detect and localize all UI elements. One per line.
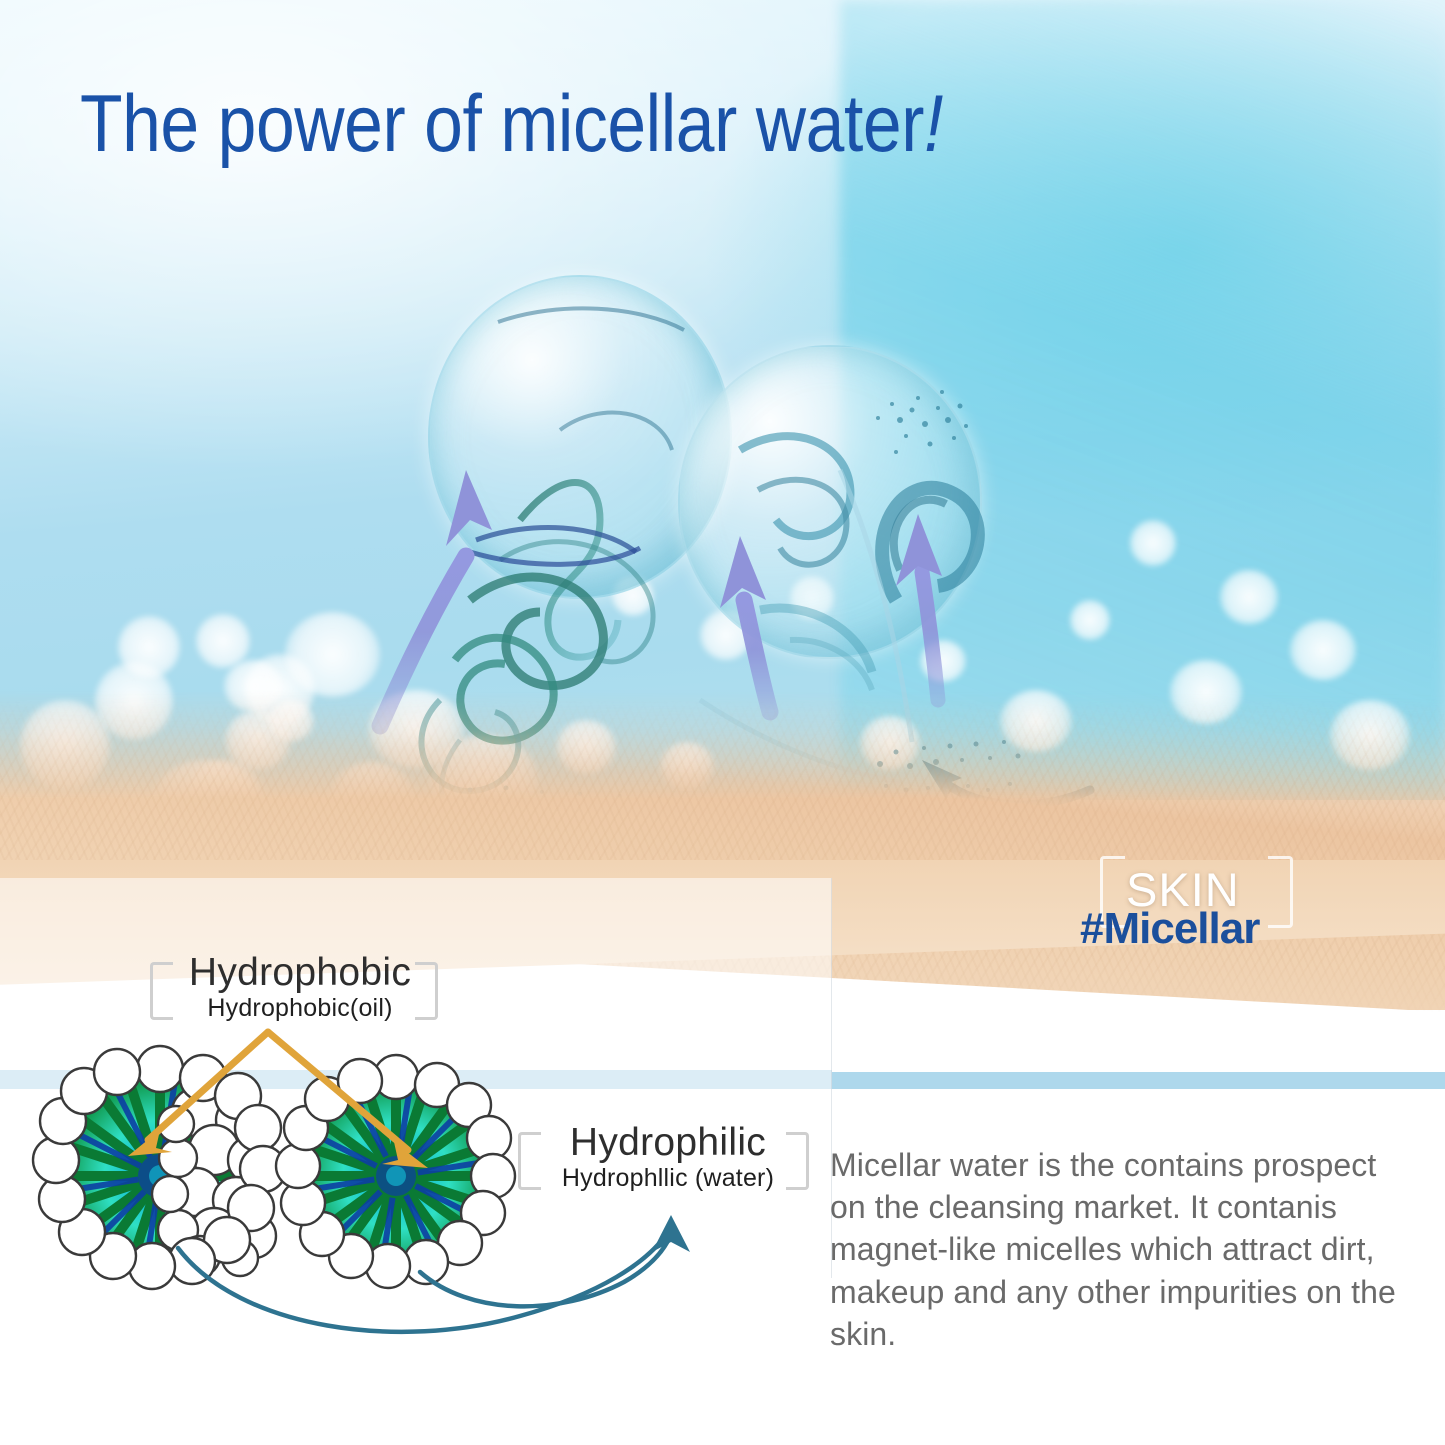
callout-hydrophobic-heading: Hydrophobic: [150, 952, 450, 994]
callout-bracket-left-icon: [150, 962, 173, 1020]
callout-bracket-left-icon: [518, 1132, 541, 1190]
callout-hydrophobic: Hydrophobic Hydrophobic(oil): [150, 952, 450, 1023]
callout-hydrophilic-heading: Hydrophilic: [518, 1122, 818, 1164]
callout-hydrophilic-subtitle: Hydrophllic (water): [518, 1164, 818, 1193]
callout-hydrophilic: Hydrophilic Hydrophllic (water): [518, 1122, 818, 1193]
body-paragraph: Micellar water is the contains prospect …: [830, 1144, 1420, 1355]
poster-canvas: The power of micellar water! SKIN #Micel…: [0, 0, 1445, 1445]
callout-bracket-right-icon: [786, 1132, 809, 1190]
callout-bracket-right-icon: [415, 962, 438, 1020]
callout-hydrophobic-subtitle: Hydrophobic(oil): [150, 994, 450, 1023]
